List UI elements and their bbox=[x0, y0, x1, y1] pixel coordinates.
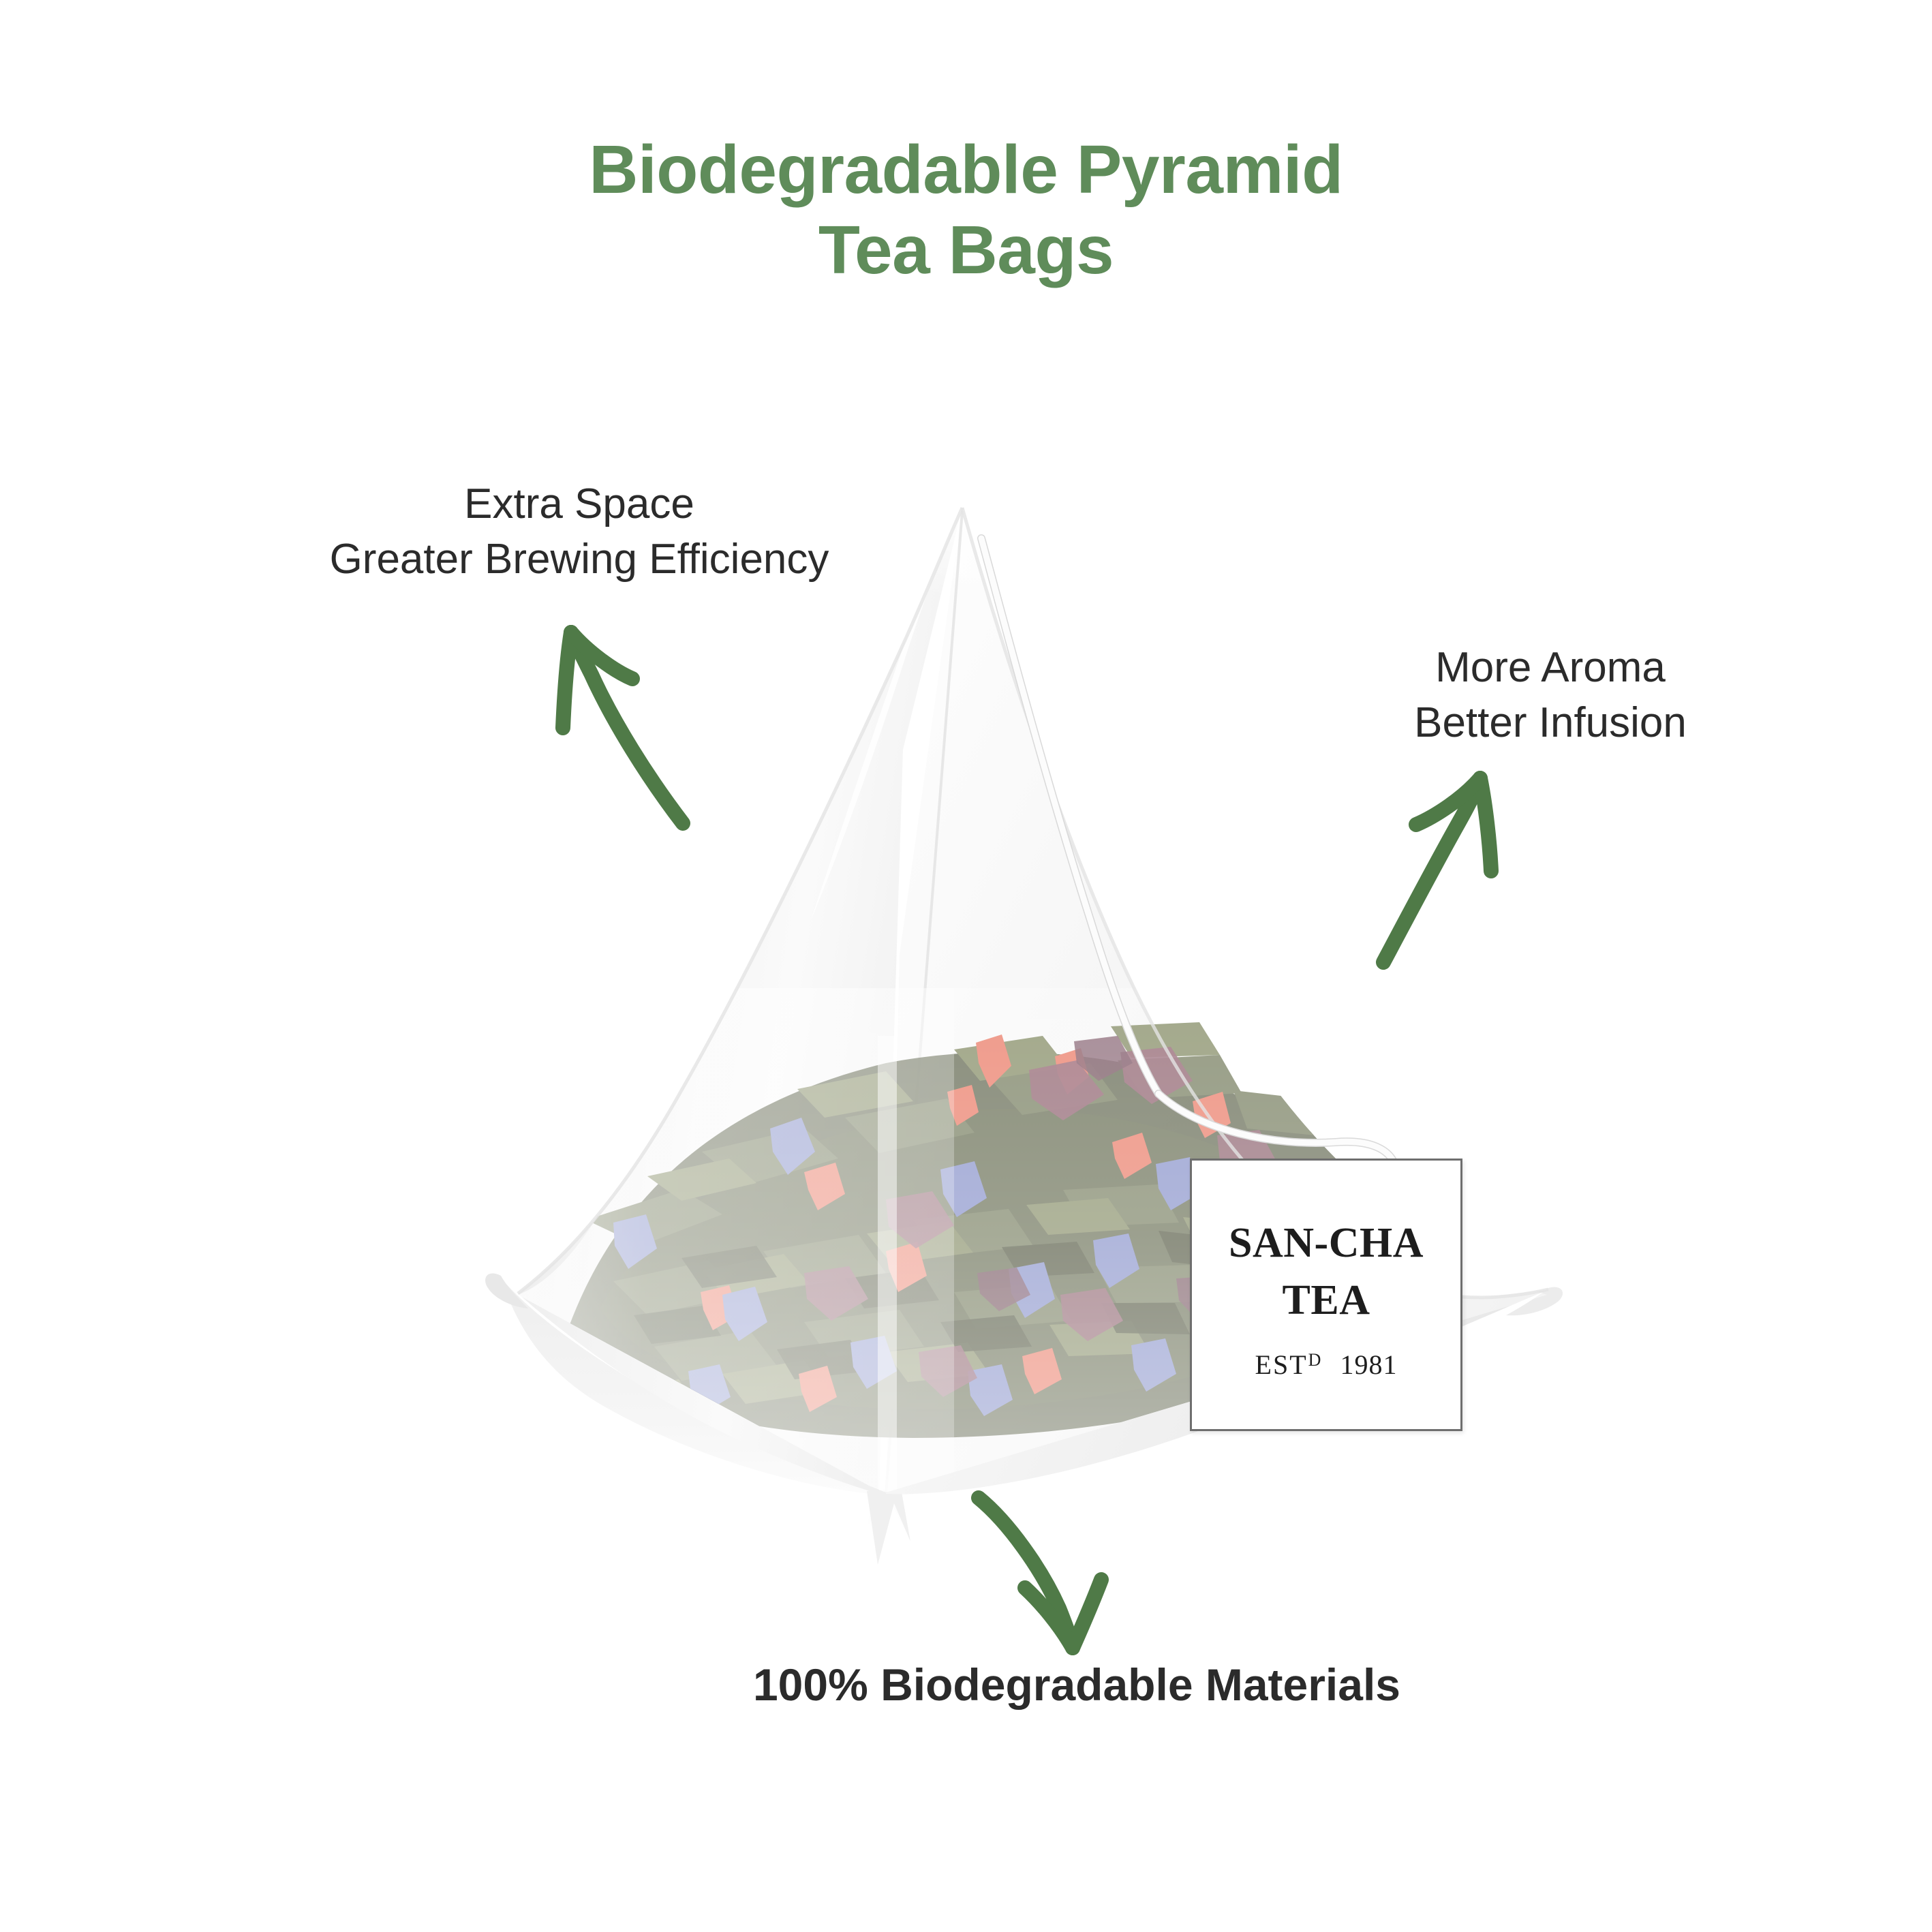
tag-brand-line-2: TEA bbox=[1283, 1279, 1370, 1321]
annotation-left-line-2: Greater Brewing Efficiency bbox=[204, 532, 954, 587]
annotation-right-line-1: More Aroma bbox=[1315, 641, 1785, 696]
infographic-canvas: Biodegradable Pyramid Tea Bags bbox=[0, 0, 1932, 1932]
annotation-right: More Aroma Better Infusion bbox=[1315, 641, 1785, 750]
tag-estd-superscript: D bbox=[1308, 1350, 1323, 1370]
annotation-bottom: 100% Biodegradable Materials bbox=[491, 1656, 1663, 1715]
annotation-left: Extra Space Greater Brewing Efficiency bbox=[204, 477, 954, 587]
tag-estd-label: EST bbox=[1255, 1349, 1308, 1381]
pyramid-teabag-illustration bbox=[0, 0, 1932, 1932]
annotation-bottom-line-1: 100% Biodegradable Materials bbox=[491, 1656, 1663, 1715]
tag-brand-line-1: SAN-CHA bbox=[1229, 1222, 1424, 1264]
tag-established: ESTD 1981 bbox=[1255, 1349, 1398, 1381]
tag-estd-year: 1981 bbox=[1340, 1349, 1397, 1381]
brand-tag: SAN-CHA TEA ESTD 1981 bbox=[1190, 1159, 1462, 1431]
annotation-right-line-2: Better Infusion bbox=[1315, 696, 1785, 751]
annotation-left-line-1: Extra Space bbox=[204, 477, 954, 532]
